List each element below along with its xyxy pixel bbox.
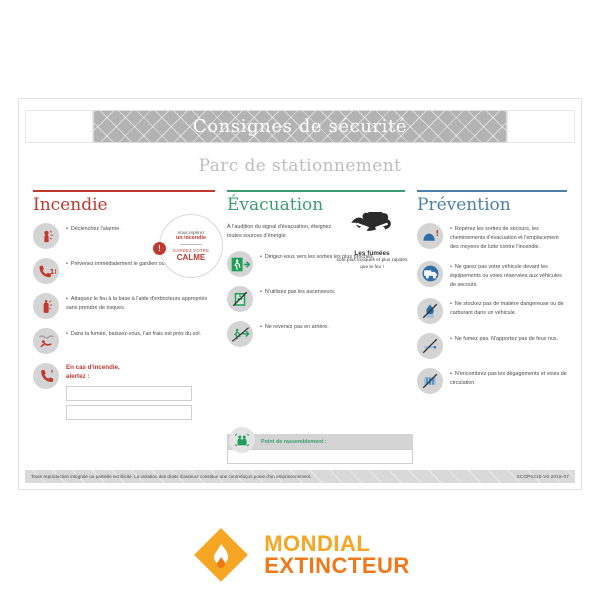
angry-smoke-face-icon bbox=[346, 212, 398, 244]
list-item: Dans la fumée, baissez-vous, l'air frais… bbox=[33, 328, 215, 354]
crawl-in-smoke-icon bbox=[33, 328, 59, 354]
column-evacuation: Évacuation Les fumées sont plus toxiques… bbox=[221, 190, 411, 468]
page-subtitle: Parc de stationnement bbox=[19, 156, 581, 176]
brand-lockup: MONDIAL EXTINCTEUR bbox=[0, 524, 600, 586]
alert-contact-field-1[interactable] bbox=[66, 386, 192, 401]
brand-word-2: EXTINCTEUR bbox=[264, 555, 410, 577]
list-item: Ne stockez pas de matière dangereuse ou … bbox=[417, 298, 567, 324]
column-rule-evacuation bbox=[227, 190, 405, 192]
list-item-label: Ne fumez pas. N'apportez pas de feux nus… bbox=[450, 333, 558, 344]
no-dangerous-goods-icon bbox=[417, 298, 443, 324]
alarm-button-icon bbox=[33, 223, 59, 249]
list-item-label: N'encombrez pas les dégagements et voies… bbox=[450, 368, 567, 388]
columns-container: Incendie ! Vous repérez un incendie GARD… bbox=[27, 190, 573, 468]
list-item: Ne revenez pas en arrière. bbox=[227, 321, 405, 347]
list-item-label: Ne revenez pas en arrière. bbox=[260, 321, 329, 332]
list-item-label: N'utilisez pas les ascenseurs. bbox=[260, 286, 335, 297]
list-item-label: Ne garez pas votre véhicule devant les é… bbox=[450, 261, 567, 290]
smoke-subtext: sont plus toxiques et plus rapides que l… bbox=[333, 257, 411, 271]
no-obstruction-icon bbox=[417, 368, 443, 394]
svg-text:18: 18 bbox=[49, 268, 55, 276]
list-item: Ne garez pas votre véhicule devant les é… bbox=[417, 261, 567, 290]
locate-exits-icon: ! bbox=[417, 223, 443, 249]
list-item: ! Repérez les sorties de secours, les ch… bbox=[417, 223, 567, 252]
list-item: Ne fumez pas. N'apportez pas de feux nus… bbox=[417, 333, 567, 359]
assembly-point-icon bbox=[229, 427, 255, 453]
emergency-exit-icon bbox=[227, 251, 253, 277]
brand-wordmark: MONDIAL EXTINCTEUR bbox=[264, 533, 410, 578]
list-item-label: Déclenchez l'alarme. bbox=[66, 223, 121, 234]
fire-alert-block: En cas d'incendie, alertez : bbox=[33, 363, 215, 420]
smoke-warning: Les fumées sont plus toxiques et plus ra… bbox=[333, 212, 411, 271]
badge-divider bbox=[180, 244, 202, 245]
no-smoking-icon bbox=[417, 333, 443, 359]
list-item: N'encombrez pas les dégagements et voies… bbox=[417, 368, 567, 394]
exclamation-icon: ! bbox=[153, 242, 166, 255]
alert-title-line-1: En cas d'incendie, bbox=[66, 363, 192, 372]
column-rule-fire bbox=[33, 190, 215, 192]
list-item-label: Repérez les sorties de secours, les chem… bbox=[450, 223, 567, 252]
no-return-icon bbox=[227, 321, 253, 347]
no-elevator-icon bbox=[227, 286, 253, 312]
safety-poster: Consignes de sécurité Parc de stationnem… bbox=[18, 98, 582, 490]
phone-alert-icon bbox=[33, 363, 59, 389]
column-prevention: Prévention ! Repérez les sorties de seco… bbox=[411, 190, 573, 468]
brand-word-1: MONDIAL bbox=[264, 533, 410, 555]
list-item-label: Ne stockez pas de matière dangereuse ou … bbox=[450, 298, 567, 318]
evacuation-intro: À l'audition du signal d'évacuation, éte… bbox=[227, 223, 339, 241]
badge-line-2: un incendie bbox=[176, 235, 206, 241]
column-rule-prevention bbox=[417, 190, 567, 192]
poster-header: Consignes de sécurité bbox=[25, 110, 575, 150]
poster-footer: Toute reproduction intégrale ou partiell… bbox=[25, 470, 575, 483]
legal-notice: Toute reproduction intégrale ou partiell… bbox=[31, 474, 312, 479]
reference-code: SCOP0215-V0 2018-07 bbox=[517, 474, 569, 479]
phone-18-icon: 18 bbox=[33, 258, 59, 284]
no-parking-truck-icon bbox=[417, 261, 443, 287]
alert-title-line-2: alertez : bbox=[66, 372, 192, 381]
alert-contact-field-2[interactable] bbox=[66, 405, 192, 420]
fire-extinguisher-icon bbox=[33, 293, 59, 319]
smoke-caption: Les fumées bbox=[333, 250, 411, 257]
svg-text:!: ! bbox=[435, 228, 439, 237]
list-item-label: Dans la fumée, baissez-vous, l'air frais… bbox=[66, 328, 201, 339]
list-item-label: Attaquez le feu à la base à l'aide d'ext… bbox=[66, 293, 215, 313]
keep-calm-badge: ! Vous repérez un incendie GARDEZ VOTRE … bbox=[159, 214, 223, 278]
badge-line-4: CALME bbox=[177, 253, 205, 262]
column-title-fire: Incendie bbox=[33, 195, 215, 215]
list-item: N'utilisez pas les ascenseurs. bbox=[227, 286, 405, 312]
column-incendie: Incendie ! Vous repérez un incendie GARD… bbox=[27, 190, 221, 468]
column-title-prevention: Prévention bbox=[417, 195, 567, 215]
page-title: Consignes de sécurité bbox=[25, 110, 575, 143]
assembly-point-block: Point de rassemblement : bbox=[227, 434, 413, 464]
list-item: Attaquez le feu à la base à l'aide d'ext… bbox=[33, 293, 215, 319]
flame-diamond-logo bbox=[190, 524, 252, 586]
assembly-point-field[interactable] bbox=[227, 449, 413, 464]
